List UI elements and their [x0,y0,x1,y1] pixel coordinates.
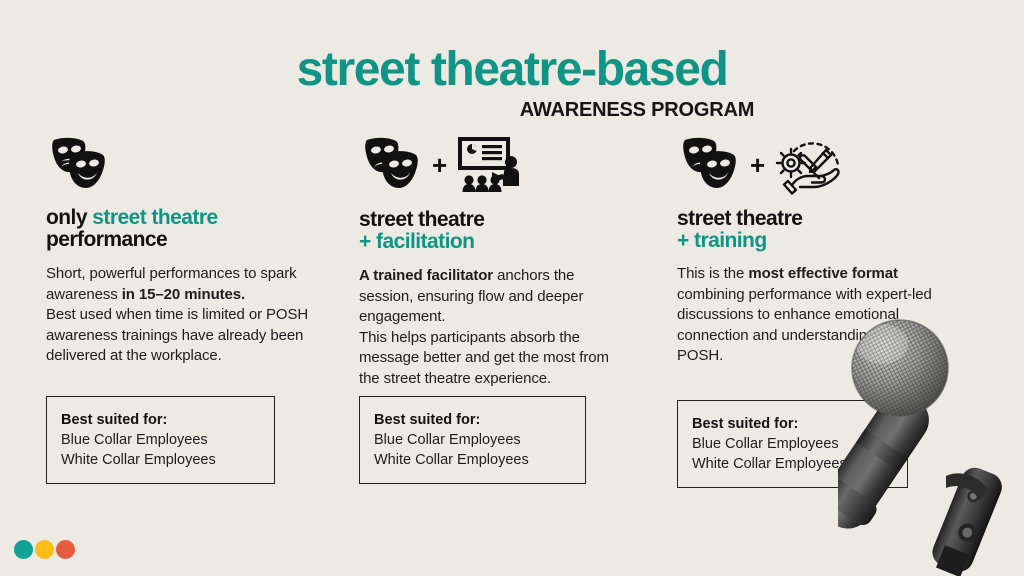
run-text-bold: A trained facilitator [359,267,493,284]
best-suited-title: Best suited for: [61,411,274,430]
column-2-heading: street theatre + facilitation [359,209,625,253]
theatre-masks-icon [359,136,423,194]
column-only-street-theatre: only street theatre performance Short, p… [46,134,314,367]
column-2-paragraph-2: This helps participants absorb the messa… [359,328,625,390]
column-1-heading-line2: performance [46,229,314,251]
plus-sign-icon: + [750,152,765,178]
column-2-heading-line1: street theatre [359,208,484,231]
dot-teal [14,540,33,559]
best-suited-line: Blue Collar Employees [692,434,907,454]
column-1-heading-line1-accent: street theatre [92,206,217,229]
best-suited-box-1: Best suited for: Blue Collar Employees W… [46,396,275,484]
title-main: street theatre-based [0,44,1024,96]
column-2-heading-line2-accent: + facilitation [359,231,625,253]
icon-row-1 [46,134,314,196]
column-1-paragraph-1: Short, powerful performances to spark aw… [46,264,314,305]
icon-row-3: + [677,134,933,196]
column-1-body: Short, powerful performances to spark aw… [46,264,314,367]
column-3-heading: street theatre + training [677,208,933,252]
run-text: Best used when time is limited or POSH a… [46,306,308,364]
page-title: street theatre-based AWARENESS PROGRAM [0,44,1024,122]
column-street-theatre-facilitation: + [359,134,625,389]
plus-sign-icon: + [432,152,447,178]
column-1-paragraph-2: Best used when time is limited or POSH a… [46,305,314,367]
decorative-dots [14,540,75,559]
column-2-body: A trained facilitator anchors the sessio… [359,266,625,389]
slide-canvas: street theatre-based AWARENESS PROGRAM [0,0,1024,576]
column-3-paragraph-1: This is the most effective format combin… [677,264,933,367]
run-text: combining performance with expert-led di… [677,286,932,365]
column-3-heading-line2-accent: + training [677,230,933,252]
run-text-bold: most effective format [748,265,898,282]
column-1-heading: only street theatre performance [46,207,314,251]
best-suited-line: Blue Collar Employees [61,430,274,450]
best-suited-line: Blue Collar Employees [374,430,585,450]
run-text: This helps participants absorb the messa… [359,329,609,387]
best-suited-box-2: Best suited for: Blue Collar Employees W… [359,396,586,484]
column-1-heading-line1-plain: only [46,206,92,229]
column-3-heading-line1: street theatre [677,207,802,230]
column-street-theatre-training: + [677,134,933,367]
run-text: This is the [677,265,748,282]
theatre-masks-icon [46,136,110,194]
facilitation-presentation-icon [456,136,526,194]
icon-row-2: + [359,134,625,196]
column-3-body: This is the most effective format combin… [677,264,933,367]
best-suited-line: White Collar Employees [692,454,907,474]
best-suited-line: White Collar Employees [61,450,274,470]
dot-red [56,540,75,559]
best-suited-line: White Collar Employees [374,450,585,470]
best-suited-title: Best suited for: [374,411,585,430]
best-suited-box-3: Best suited for: Blue Collar Employees W… [677,400,908,488]
skills-training-hand-icon [774,135,846,195]
best-suited-title: Best suited for: [692,415,907,434]
title-subtitle: AWARENESS PROGRAM [0,98,1024,122]
dot-amber [35,540,54,559]
run-text-bold: in 15–20 minutes. [122,286,245,303]
theatre-masks-icon [677,136,741,194]
column-2-paragraph-1: A trained facilitator anchors the sessio… [359,266,625,328]
